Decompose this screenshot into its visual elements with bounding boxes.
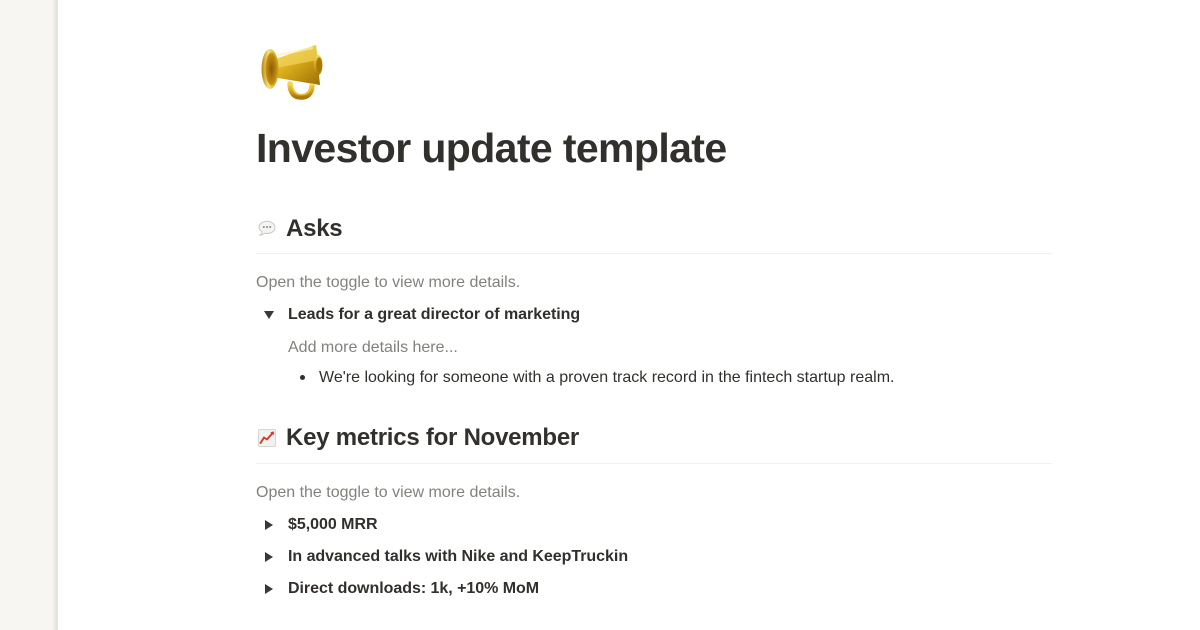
section-heading-label: Key metrics for November	[286, 422, 579, 453]
section-spacer	[256, 394, 1052, 422]
bullet-dot-icon	[300, 375, 305, 380]
toggle-item: In advanced talks with Nike and KeepTruc…	[256, 542, 1052, 572]
toggle-label: Leads for a great director of marketing	[288, 303, 580, 327]
triangle-right-icon[interactable]	[258, 577, 280, 601]
toggle-item: Leads for a great director of marketing …	[256, 300, 1052, 392]
page-title[interactable]: Investor update template	[256, 124, 1052, 173]
section-divider	[256, 463, 1052, 464]
section-heading-asks[interactable]: Asks	[256, 213, 1052, 244]
document-page: Investor update template Asks	[58, 0, 1200, 606]
list-item: We're looking for someone with a proven …	[288, 364, 1052, 392]
section-heading-label: Asks	[286, 213, 342, 244]
page-scroll-area[interactable]: Investor update template Asks	[58, 0, 1200, 630]
toggle-row[interactable]: In advanced talks with Nike and KeepTruc…	[258, 542, 1052, 572]
triangle-right-icon[interactable]	[258, 513, 280, 537]
toggle-row[interactable]: $5,000 MRR	[258, 510, 1052, 540]
sidebar	[0, 0, 58, 630]
megaphone-emoji[interactable]	[256, 28, 334, 106]
toggle-item: $5,000 MRR	[256, 510, 1052, 540]
toggle-item: Direct downloads: 1k, +10% MoM	[256, 574, 1052, 604]
triangle-down-icon[interactable]	[258, 303, 280, 327]
toggle-label: In advanced talks with Nike and KeepTruc…	[288, 545, 628, 569]
app-window: Investor update template Asks	[0, 0, 1200, 630]
toggle-list-asks: Leads for a great director of marketing …	[256, 300, 1052, 392]
triangle-right-icon[interactable]	[258, 545, 280, 569]
toggle-label: Direct downloads: 1k, +10% MoM	[288, 577, 539, 601]
toggle-label: $5,000 MRR	[288, 513, 378, 537]
section-divider	[256, 253, 1052, 254]
speech-balloon-emoji	[256, 218, 278, 240]
list-item-text: We're looking for someone with a proven …	[319, 369, 894, 386]
section-asks: Asks Open the toggle to view more detail…	[256, 213, 1052, 392]
bullet-list: We're looking for someone with a proven …	[288, 364, 1052, 392]
toggle-list-key-metrics: $5,000 MRR In advanced talks with Nike a…	[256, 510, 1052, 604]
section-hint: Open the toggle to view more details.	[256, 481, 1052, 505]
section-key-metrics: Key metrics for November Open the toggle…	[256, 422, 1052, 603]
toggle-children: Add more details here... We're looking f…	[256, 336, 1052, 392]
chart-increasing-emoji	[256, 427, 278, 449]
section-heading-key-metrics[interactable]: Key metrics for November	[256, 422, 1052, 453]
toggle-row[interactable]: Leads for a great director of marketing	[258, 300, 1052, 330]
toggle-row[interactable]: Direct downloads: 1k, +10% MoM	[258, 574, 1052, 604]
section-hint: Open the toggle to view more details.	[256, 271, 1052, 295]
toggle-child-hint[interactable]: Add more details here...	[288, 336, 1052, 360]
